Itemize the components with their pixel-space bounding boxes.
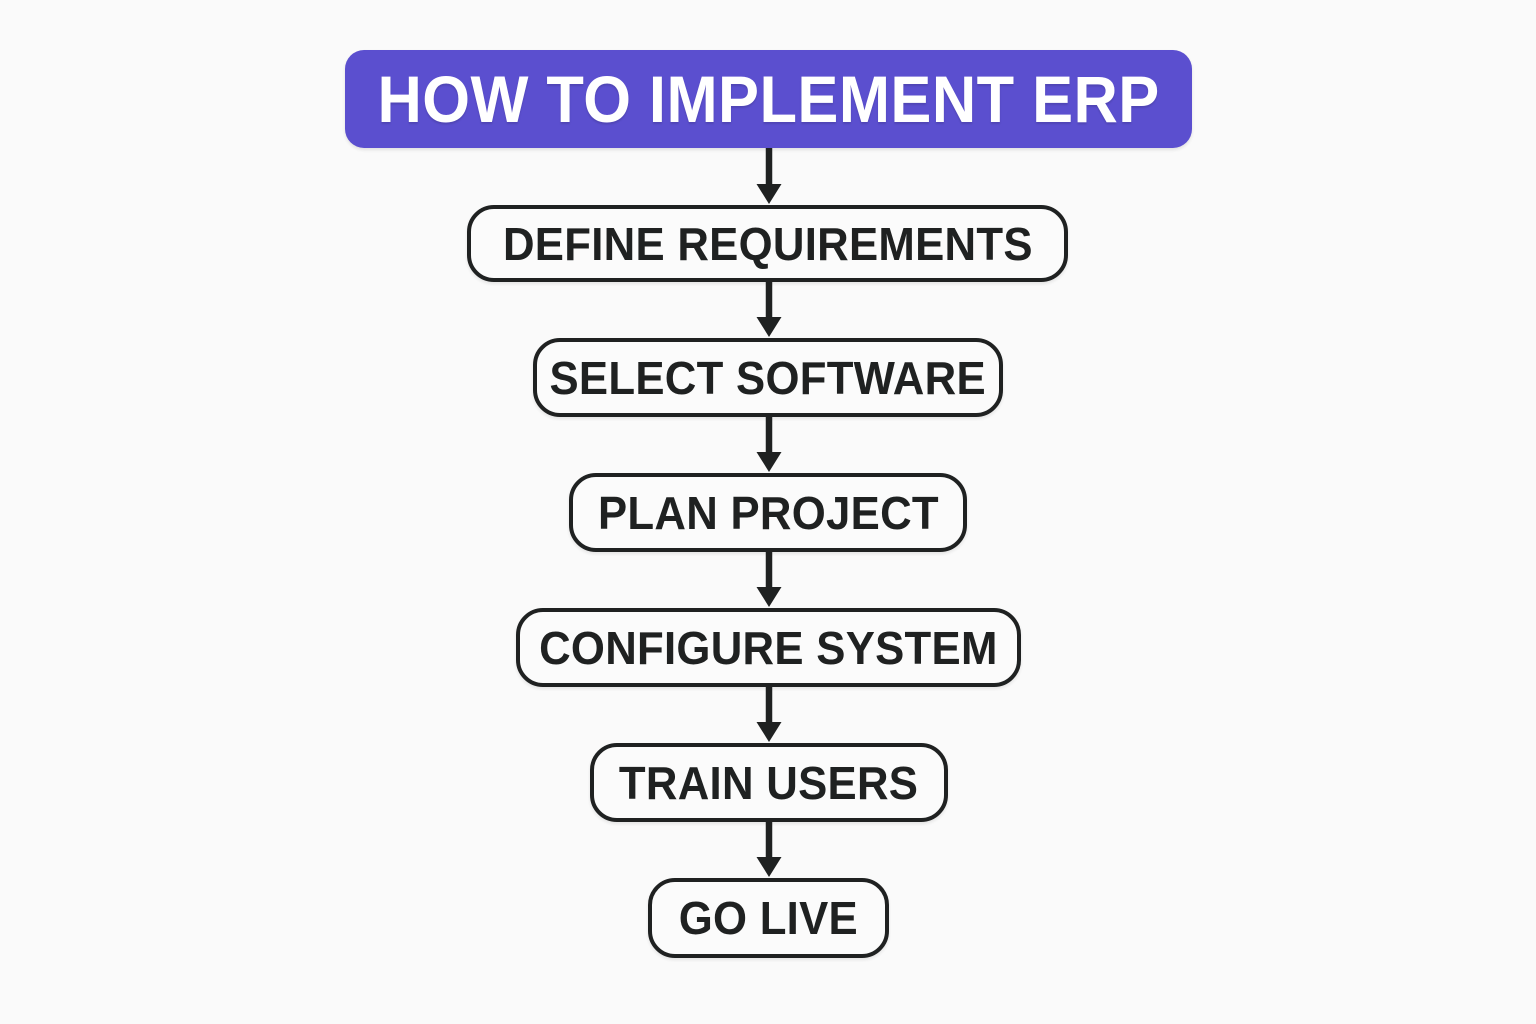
- arrow-down-icon: [755, 687, 783, 743]
- arrow-down-icon: [755, 282, 783, 338]
- node-label: TRAIN USERS: [619, 760, 918, 806]
- arrow-down-icon: [755, 552, 783, 608]
- connector-arrow-step-1-to-step-2: [755, 282, 783, 338]
- node-label: GO LIVE: [679, 895, 858, 941]
- process-node-plan-project[interactable]: PLAN PROJECT: [569, 473, 967, 552]
- connector-arrow-step-4-to-step-5: [755, 687, 783, 743]
- flowchart-canvas: HOW TO IMPLEMENT ERP DEFINE REQUIREMENTS…: [0, 0, 1536, 1024]
- arrow-down-icon: [755, 417, 783, 473]
- node-label: DEFINE REQUIREMENTS: [503, 221, 1033, 267]
- process-node-select-software[interactable]: SELECT SOFTWARE: [533, 338, 1003, 417]
- node-label: SELECT SOFTWARE: [550, 355, 986, 401]
- arrow-down-icon: [755, 148, 783, 205]
- process-node-configure-system[interactable]: CONFIGURE SYSTEM: [516, 608, 1021, 687]
- connector-arrow-title-to-step-1: [755, 148, 783, 205]
- process-node-train-users[interactable]: TRAIN USERS: [590, 743, 948, 822]
- node-label: PLAN PROJECT: [598, 490, 939, 536]
- connector-arrow-step-2-to-step-3: [755, 417, 783, 473]
- connector-arrow-step-5-to-step-6: [755, 822, 783, 878]
- process-node-go-live[interactable]: GO LIVE: [648, 878, 889, 958]
- connector-arrow-step-3-to-step-4: [755, 552, 783, 608]
- diagram-title-banner: HOW TO IMPLEMENT ERP: [345, 50, 1192, 148]
- process-node-define-requirements[interactable]: DEFINE REQUIREMENTS: [467, 205, 1068, 282]
- diagram-title-text: HOW TO IMPLEMENT ERP: [377, 66, 1159, 132]
- node-label: CONFIGURE SYSTEM: [539, 625, 998, 671]
- arrow-down-icon: [755, 822, 783, 878]
